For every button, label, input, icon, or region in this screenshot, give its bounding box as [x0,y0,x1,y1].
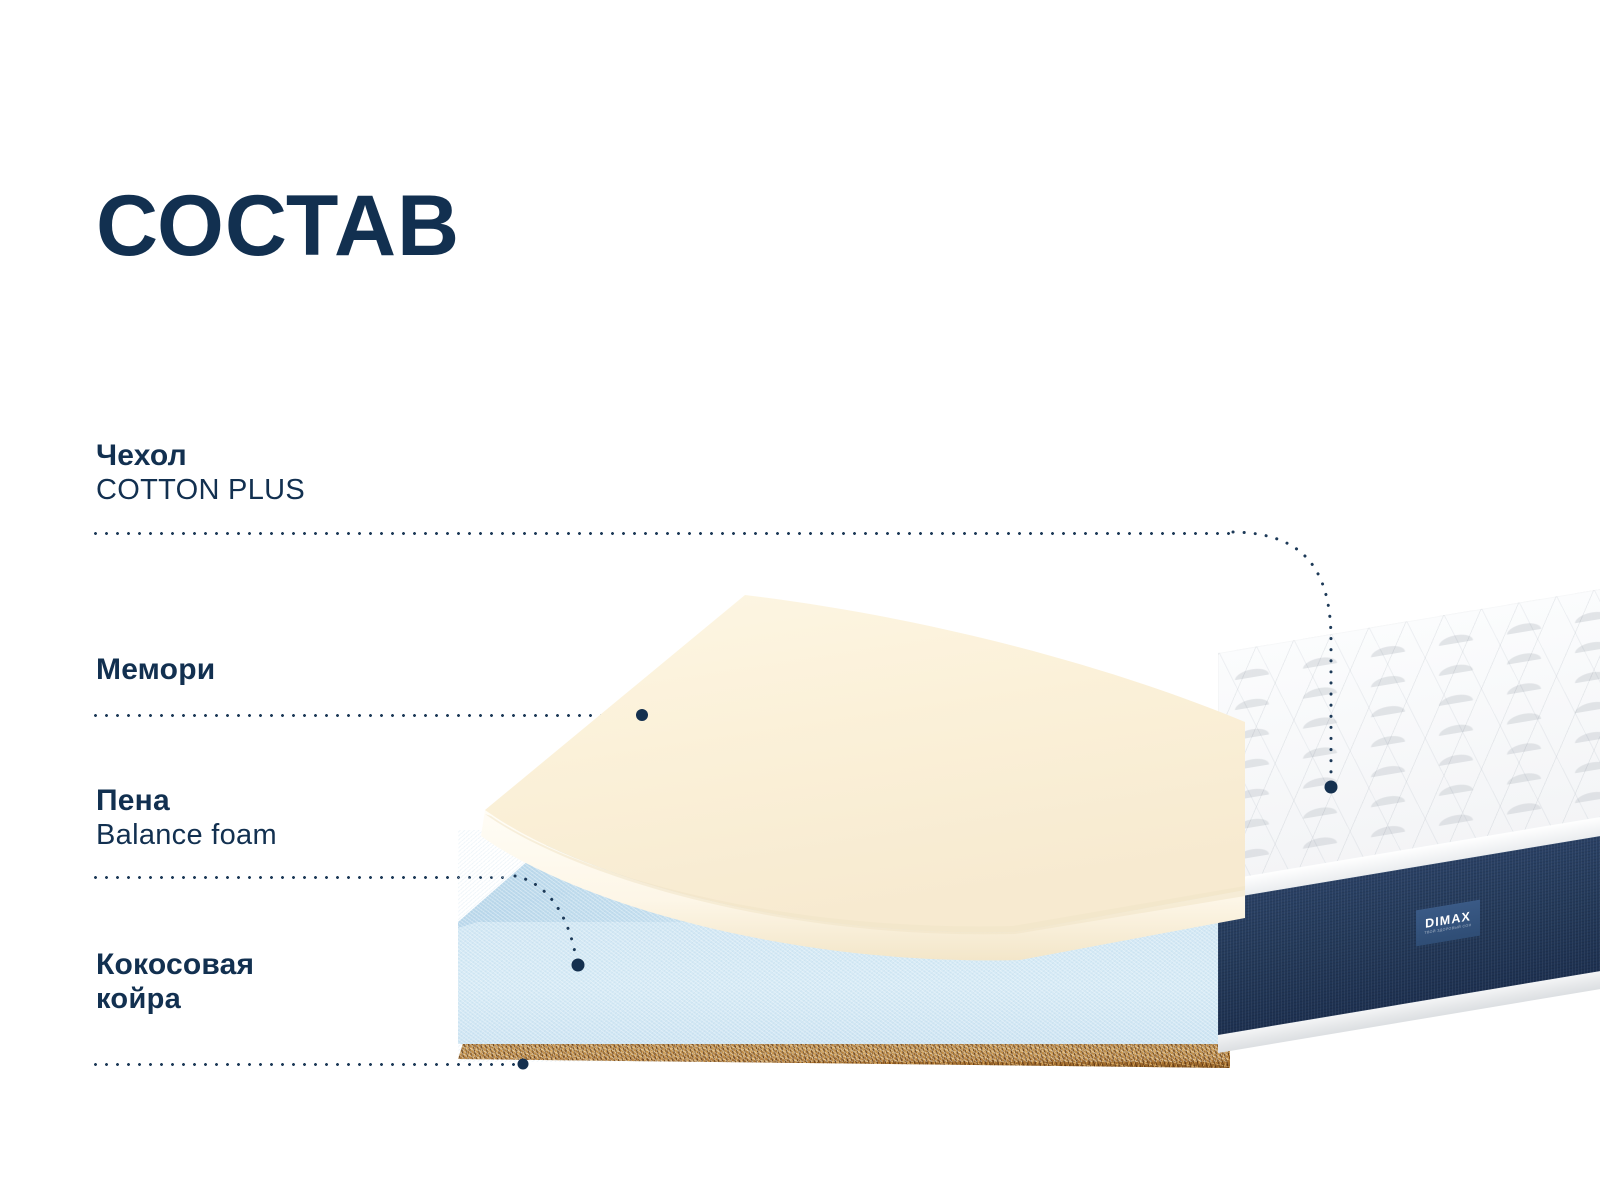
leader-line-cover [90,532,1233,535]
memory-foam-shape [455,560,1245,960]
mattress-base: DIMAX ТВОЙ ЗДОРОВЫЙ СОН [1218,653,1600,1098]
layer-label-coir-line1: Кокосовая [96,947,254,982]
layer-label-cover: Чехол COTTON PLUS [96,438,305,508]
layer-label-foam-line2: Balance foam [96,818,277,852]
layer-label-foam: Пена Balance foam [96,783,277,853]
leader-line-coir [90,1063,525,1066]
layer-label-coir-line2: койра [96,982,254,1016]
layer-label-memory-line1: Мемори [96,652,215,687]
memory-foam-layer [455,560,1245,960]
page-title: СОСТАВ [96,183,460,269]
layer-label-foam-line1: Пена [96,783,277,818]
layer-label-cover-line1: Чехол [96,438,305,473]
layer-label-cover-line2: COTTON PLUS [96,473,305,507]
slide-canvas: СОСТАВ Чехол COTTON PLUS Мемори Пена Bal… [0,0,1600,1200]
layer-label-coir: Кокосовая койра [96,947,254,1017]
leader-line-foam [90,876,515,879]
layer-label-memory: Мемори [96,652,215,687]
